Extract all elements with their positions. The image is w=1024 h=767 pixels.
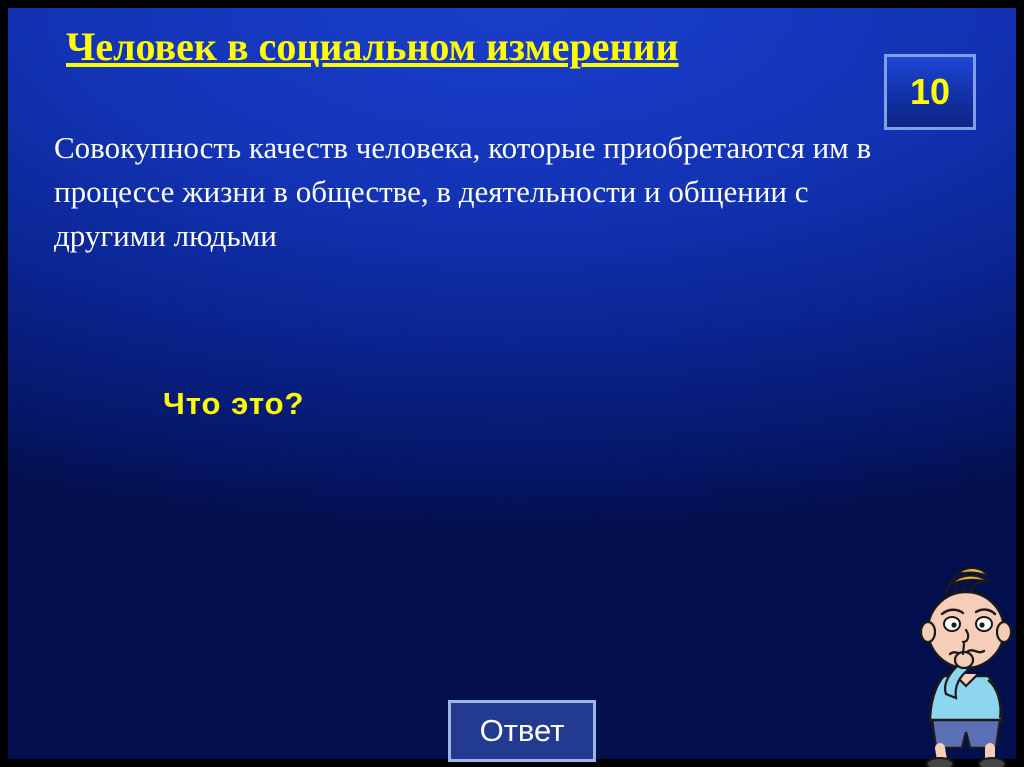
score-badge: 10 <box>884 54 976 130</box>
question-prompt: Что это? <box>163 386 304 422</box>
slide-root: Человек в социальном измерении 10 Совоку… <box>0 0 1024 767</box>
answer-button[interactable]: Ответ <box>448 700 596 762</box>
cartoon-boy-thinking-icon <box>906 564 1024 767</box>
score-value: 10 <box>910 74 950 110</box>
answer-button-label: Ответ <box>480 713 565 749</box>
question-text: Совокупность качеств человека, которые п… <box>54 126 884 258</box>
slide-panel: Человек в социальном измерении 10 Совоку… <box>8 8 1016 759</box>
page-title: Человек в социальном измерении <box>66 24 896 70</box>
